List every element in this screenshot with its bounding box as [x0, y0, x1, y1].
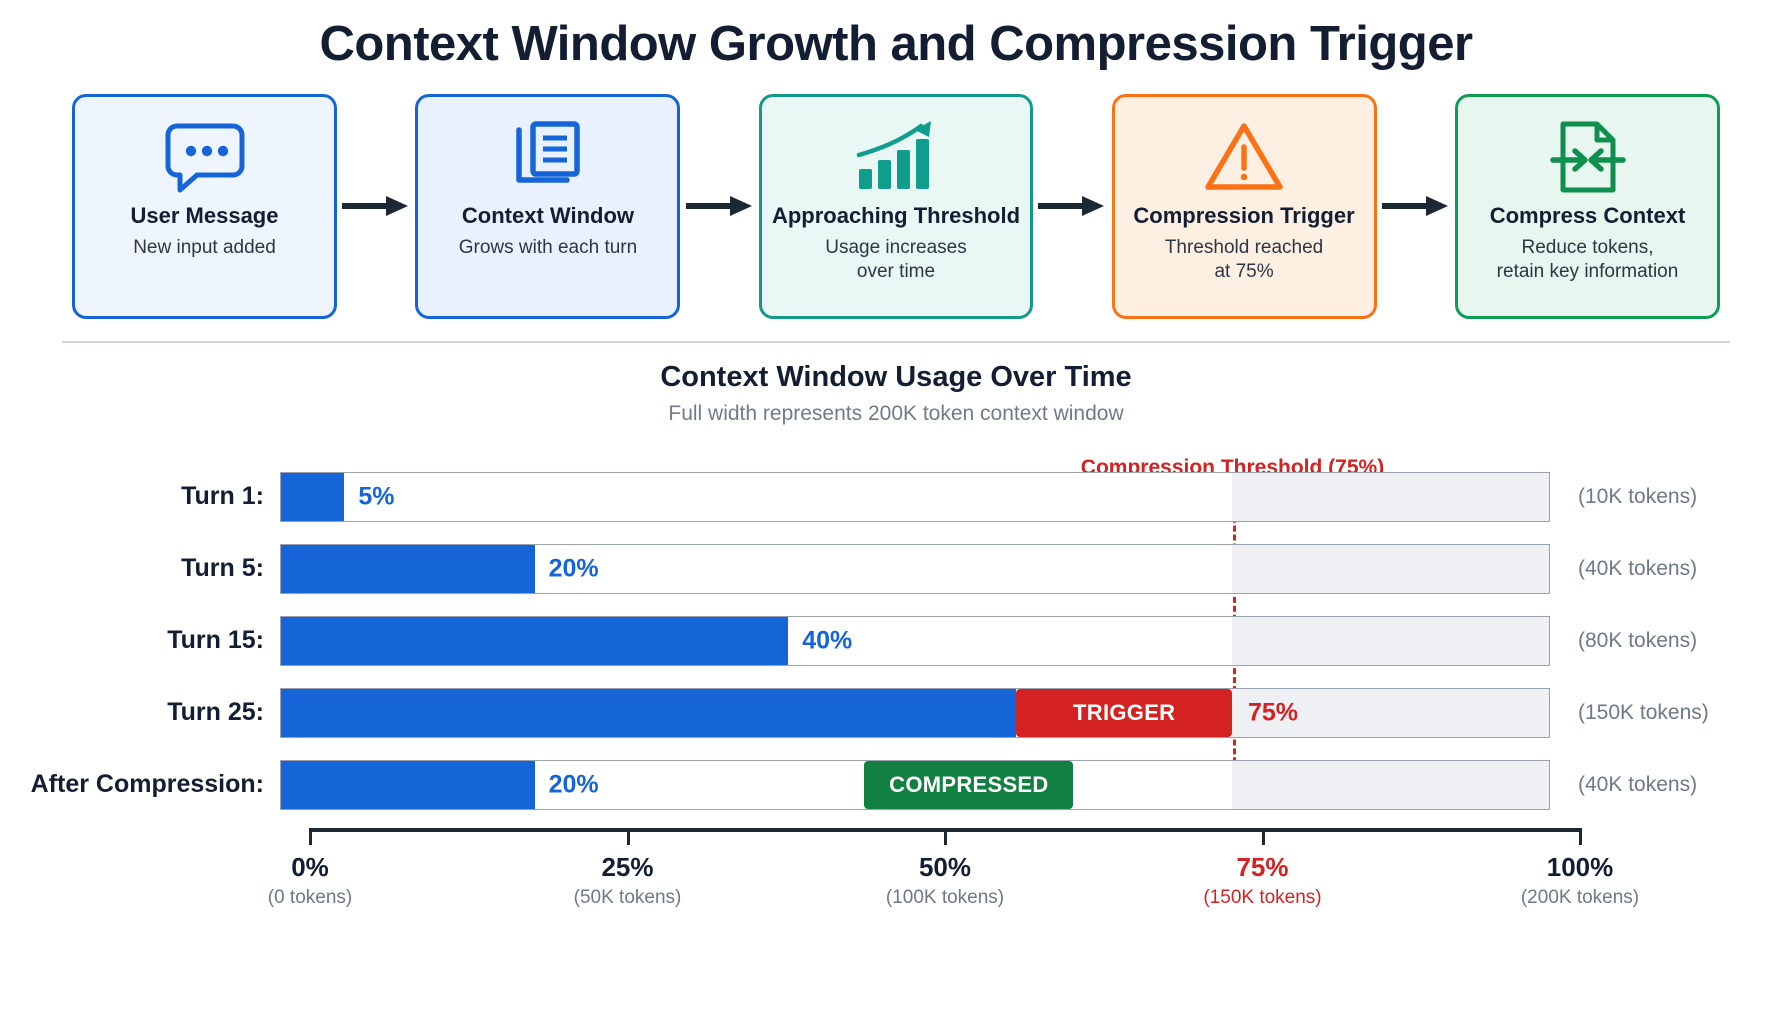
axis-tick-label: 100% (200K tokens): [1521, 852, 1639, 909]
flow-card-title: Compress Context: [1490, 203, 1686, 229]
trigger-badge[interactable]: TRIGGER: [1016, 689, 1232, 737]
bar-track[interactable]: 20% COMPRESSED: [280, 760, 1550, 810]
bar-value-label: 5%: [358, 482, 394, 511]
flow-card-compression-trigger[interactable]: Compression Trigger Threshold reached at…: [1112, 94, 1377, 319]
axis-tick-percent: 50%: [886, 852, 1004, 883]
bar-fill: [281, 761, 535, 809]
compress-document-icon: [1549, 115, 1627, 199]
table-row: After Compression: 20% COMPRESSED (40K t…: [30, 756, 1792, 814]
bar-row-label: After Compression:: [30, 770, 280, 799]
bar-value-label: 20%: [549, 770, 599, 799]
flow-card-compress-context[interactable]: Compress Context Reduce tokens, retain k…: [1455, 94, 1720, 319]
axis-tick-percent: 100%: [1521, 852, 1639, 883]
page-title: Context Window Growth and Compression Tr…: [0, 0, 1792, 72]
table-row: Turn 15: 40% (80K tokens): [30, 612, 1792, 670]
usage-bar-chart: Compression Threshold (75%) Turn 1: 5% (…: [0, 468, 1792, 906]
flow-card-subtitle: Grows with each turn: [459, 236, 637, 260]
bar-row-label: Turn 25:: [30, 698, 280, 727]
bar-track[interactable]: 5%: [280, 472, 1550, 522]
x-axis: 0% (0 tokens) 25% (50K tokens) 50% (100K…: [310, 828, 1580, 906]
over-threshold-zone: [1232, 473, 1549, 521]
flow-card-title: Approaching Threshold: [772, 203, 1020, 229]
chart-subtitle: Full width represents 200K token context…: [0, 402, 1792, 426]
arrow-right-icon: [337, 94, 415, 319]
flow-card-title: Compression Trigger: [1133, 203, 1354, 229]
axis-tick-percent: 0%: [268, 852, 352, 883]
arrow-right-icon: [1377, 94, 1455, 319]
table-row: Turn 25: TRIGGER 75% (150K tokens): [30, 684, 1792, 742]
chart-title: Context Window Usage Over Time: [0, 361, 1792, 394]
axis-tick-label: 50% (100K tokens): [886, 852, 1004, 909]
over-threshold-zone: [1232, 761, 1549, 809]
section-divider: [62, 341, 1730, 343]
bar-row-label: Turn 5:: [30, 554, 280, 583]
bar-track[interactable]: 20%: [280, 544, 1550, 594]
axis-tick-tokens: (0 tokens): [268, 887, 352, 909]
flow-diagram: User Message New input added Context Win…: [0, 94, 1792, 319]
compressed-badge[interactable]: COMPRESSED: [864, 761, 1073, 809]
flow-card-subtitle: Reduce tokens, retain key information: [1497, 236, 1679, 285]
flow-card-approaching-threshold[interactable]: Approaching Threshold Usage increases ov…: [759, 94, 1033, 319]
axis-tick-label: 25% (50K tokens): [574, 852, 682, 909]
flow-card-subtitle: Threshold reached at 75%: [1165, 236, 1323, 285]
axis-tick-label: 0% (0 tokens): [268, 852, 352, 909]
axis-tick-tokens: (50K tokens): [574, 887, 682, 909]
over-threshold-zone: [1232, 545, 1549, 593]
rising-bar-chart-icon: [853, 115, 939, 199]
bar-fill: [281, 689, 1016, 737]
flow-card-title: User Message: [131, 203, 279, 229]
axis-tick-percent: 25%: [574, 852, 682, 883]
bar-value-label: 75%: [1248, 698, 1298, 727]
bar-value-label: 20%: [549, 554, 599, 583]
bar-token-label: (80K tokens): [1550, 629, 1780, 653]
bar-fill: [281, 473, 344, 521]
bar-track[interactable]: 40%: [280, 616, 1550, 666]
bar-row-label: Turn 1:: [30, 482, 280, 511]
arrow-right-icon: [680, 94, 758, 319]
over-threshold-zone: [1232, 617, 1549, 665]
axis-tick-tokens: (100K tokens): [886, 887, 1004, 909]
documents-stack-icon: [509, 115, 587, 199]
axis-tick-label: 75% (150K tokens): [1203, 852, 1321, 909]
flow-card-subtitle: Usage increases over time: [825, 236, 967, 285]
axis-tick-tokens: (150K tokens): [1203, 887, 1321, 909]
table-row: Turn 1: 5% (10K tokens): [30, 468, 1792, 526]
bar-token-label: (150K tokens): [1550, 701, 1780, 725]
bar-token-label: (40K tokens): [1550, 557, 1780, 581]
bar-fill: [281, 545, 535, 593]
flow-card-subtitle: New input added: [133, 236, 276, 260]
warning-triangle-icon: [1202, 115, 1286, 199]
bar-fill: [281, 617, 788, 665]
chat-bubble-icon: [165, 115, 245, 199]
bar-token-label: (10K tokens): [1550, 485, 1780, 509]
axis-tick-tokens: (200K tokens): [1521, 887, 1639, 909]
axis-tick-percent: 75%: [1203, 852, 1321, 883]
bar-value-label: 40%: [802, 626, 852, 655]
bar-row-label: Turn 15:: [30, 626, 280, 655]
bar-token-label: (40K tokens): [1550, 773, 1780, 797]
table-row: Turn 5: 20% (40K tokens): [30, 540, 1792, 598]
flow-card-context-window[interactable]: Context Window Grows with each turn: [415, 94, 680, 319]
flow-card-title: Context Window: [462, 203, 634, 229]
flow-card-user-message[interactable]: User Message New input added: [72, 94, 337, 319]
bar-track[interactable]: TRIGGER 75%: [280, 688, 1550, 738]
arrow-right-icon: [1033, 94, 1111, 319]
